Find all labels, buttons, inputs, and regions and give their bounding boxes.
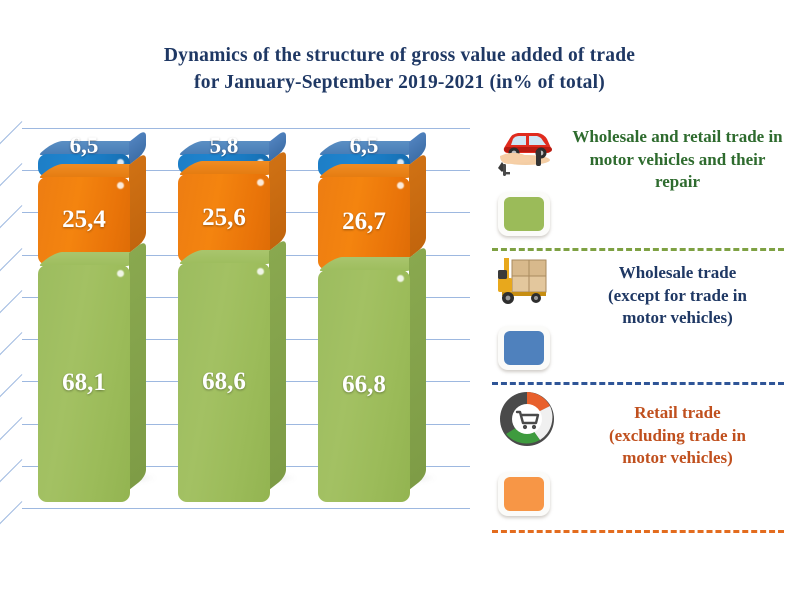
- chart-title-line-2: for January-September 2019-2021 (in% of …: [0, 69, 799, 96]
- legend-item-label-line: motor vehicles and their: [556, 149, 799, 172]
- bar-value-label: 5,8: [178, 134, 270, 157]
- bar-segment-side-face: [409, 151, 426, 257]
- legend-item-label-line: Wholesale trade: [556, 262, 799, 285]
- bar-column[interactable]: 68,125,46,5: [38, 154, 146, 502]
- plot-area: 68,125,46,568,625,65,866,826,76,5: [0, 120, 470, 530]
- bar-value-label: 6,5: [38, 134, 130, 157]
- bar-segment-side-face: [129, 240, 146, 490]
- chart-title: Dynamics of the structure of gross value…: [0, 42, 799, 96]
- bar-segment-highlight: [117, 270, 124, 277]
- chart-title-line-1: Dynamics of the structure of gross value…: [0, 42, 799, 69]
- legend-color-swatch-fill: [504, 331, 544, 365]
- bar-value-label: 6,5: [318, 134, 410, 157]
- legend-item-label: Wholesale and retail trade inmotor vehic…: [556, 126, 799, 194]
- bar-group: 68,125,46,568,625,65,866,826,76,5: [0, 120, 470, 530]
- bar-column[interactable]: 66,826,76,5: [318, 154, 426, 502]
- legend-item-label-line: (except for trade in: [556, 285, 799, 308]
- chart-legend: Wholesale and retail trade inmotor vehic…: [484, 120, 799, 550]
- legend-color-swatch: [498, 192, 550, 236]
- legend-item-label-line: (excluding trade in: [556, 425, 799, 448]
- infographic-root: Dynamics of the structure of gross value…: [0, 0, 799, 600]
- bar-column[interactable]: 68,625,65,8: [178, 154, 286, 502]
- legend-item-label-line: motor vehicles): [556, 307, 799, 330]
- bar-segment[interactable]: 26,7: [318, 177, 410, 270]
- bar-segment[interactable]: 66,8: [318, 270, 410, 502]
- legend-color-swatch: [498, 472, 550, 516]
- bar-value-label: 66,8: [318, 372, 410, 397]
- bar-segment-highlight: [397, 182, 404, 189]
- bar-segment-highlight: [117, 182, 124, 189]
- legend-item-label-line: Retail trade: [556, 402, 799, 425]
- legend-color-swatch-fill: [504, 197, 544, 231]
- legend-item-label-line: Wholesale and retail trade in: [556, 126, 799, 149]
- bar-segment-side-face: [269, 238, 286, 490]
- legend-item-label: Retail trade(excluding trade inmotor veh…: [556, 402, 799, 470]
- legend-divider: [492, 382, 784, 385]
- forklift-with-boxes-icon: [496, 252, 558, 314]
- legend-color-swatch-fill: [504, 477, 544, 511]
- bar-segment[interactable]: 68,1: [38, 265, 130, 502]
- bar-segment[interactable]: 68,6: [178, 263, 270, 502]
- bar-segment-side-face: [269, 149, 286, 251]
- legend-item-label: Wholesale trade(except for trade inmotor…: [556, 262, 799, 330]
- legend-item-label-line: repair: [556, 171, 799, 194]
- legend-divider: [492, 248, 784, 251]
- bar-segment-side-face: [129, 151, 146, 253]
- bar-value-label: 26,7: [318, 209, 410, 234]
- bar-value-label: 25,4: [38, 207, 130, 232]
- bar-value-label: 25,6: [178, 205, 270, 230]
- bar-segment-side-face: [409, 244, 426, 490]
- bar-value-label: 68,1: [38, 370, 130, 395]
- shopping-cart-circle-icon: [496, 388, 558, 450]
- legend-divider: [492, 530, 784, 533]
- red-car-with-key-icon: [496, 120, 558, 182]
- legend-item-label-line: motor vehicles): [556, 447, 799, 470]
- legend-color-swatch: [498, 326, 550, 370]
- bar-segment-highlight: [397, 275, 404, 282]
- bar-value-label: 68,6: [178, 369, 270, 394]
